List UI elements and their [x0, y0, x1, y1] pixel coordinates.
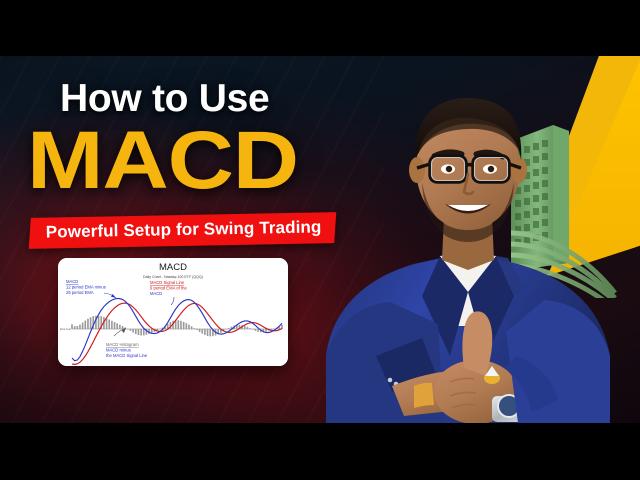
histogram-bar [244, 326, 246, 329]
histogram-bar [77, 326, 79, 329]
macd-chart-reflection: MACD Daily Chart - Nasdaq 100 ETF (QQQ) … [58, 367, 288, 419]
svg-text:MACD Signal Line: MACD Signal Line [150, 280, 185, 285]
svg-text:12 period EMA minus: 12 period EMA minus [66, 285, 106, 290]
histogram-bar [255, 329, 257, 331]
subtitle-banner-label: Powerful Setup for Swing Trading [46, 217, 322, 242]
histogram-bar [122, 326, 124, 329]
histogram-bar [138, 329, 140, 335]
histogram-bar [201, 329, 203, 334]
histogram-bar [135, 329, 137, 334]
histogram-bar [106, 318, 108, 329]
histogram-bar [183, 322, 185, 329]
thumbnail-canvas: How to Use MACD Powerful Setup for Swing… [0, 0, 640, 480]
svg-text:the MACD Signal Line: the MACD Signal Line [106, 353, 148, 358]
histogram-bar [180, 321, 182, 329]
svg-text:MACD: MACD [66, 279, 78, 284]
histogram-bar [111, 321, 113, 329]
presenter-photo [318, 56, 640, 423]
svg-text:MACD minus: MACD minus [106, 348, 131, 353]
histogram-bar [247, 327, 249, 329]
histogram-bar [188, 325, 190, 329]
chart-subtitle: Daily Chart - Nasdaq 100 ETF (QQQ) [143, 275, 203, 279]
chart-zero-label: Zero Line [60, 327, 72, 331]
thumbnail-content: How to Use MACD Powerful Setup for Swing… [0, 56, 640, 423]
histogram-bar [119, 325, 121, 329]
histogram-bar [193, 328, 195, 329]
histogram-bar [98, 316, 100, 329]
histogram-bar [204, 329, 206, 335]
histogram-bar [74, 326, 76, 329]
histogram-bar [191, 326, 193, 329]
histogram-bar [257, 329, 259, 332]
histogram-bar [207, 329, 209, 336]
histogram-bar [228, 328, 230, 329]
histogram-bar [130, 329, 132, 331]
histogram-bar [279, 327, 281, 329]
histogram-bar [143, 329, 145, 335]
letterbox-bottom [0, 423, 640, 480]
histogram-bar [108, 320, 110, 329]
histogram-bar [151, 329, 153, 333]
histogram-bar [196, 329, 198, 330]
histogram-bar [79, 325, 81, 329]
histogram-bar [90, 317, 92, 329]
histogram-bar [185, 323, 187, 329]
histogram-bar [225, 329, 227, 330]
histogram-bar [82, 323, 84, 329]
histogram-bar [199, 329, 201, 332]
chart-title: MACD [159, 262, 187, 273]
svg-text:9 period EMA of the: 9 period EMA of the [150, 286, 187, 291]
macd-chart-svg: MACD Daily Chart - Nasdaq 100 ETF (QQQ) … [58, 258, 288, 366]
histogram-bar [84, 321, 86, 329]
svg-text:26 period EMA: 26 period EMA [66, 290, 94, 295]
histogram-bar [116, 323, 118, 329]
histogram-bar [87, 319, 89, 329]
letterbox-top [0, 0, 640, 56]
histogram-bar [132, 329, 134, 333]
histogram-bar [178, 320, 180, 329]
histogram-bar [265, 329, 267, 332]
histogram-bar [140, 329, 142, 336]
histogram-bar [249, 328, 251, 329]
histogram-bar [209, 329, 211, 336]
svg-text:MACD: MACD [150, 291, 162, 296]
headline-main: MACD [27, 123, 298, 198]
subtitle-banner: Powerful Setup for Swing Trading [29, 212, 337, 249]
histogram-bar [114, 322, 116, 329]
histogram-bar [71, 324, 73, 329]
histogram-bar [252, 329, 254, 330]
svg-text:MACD Histogram: MACD Histogram [106, 342, 139, 347]
macd-chart-card: MACD Daily Chart - Nasdaq 100 ETF (QQQ) … [58, 258, 288, 366]
